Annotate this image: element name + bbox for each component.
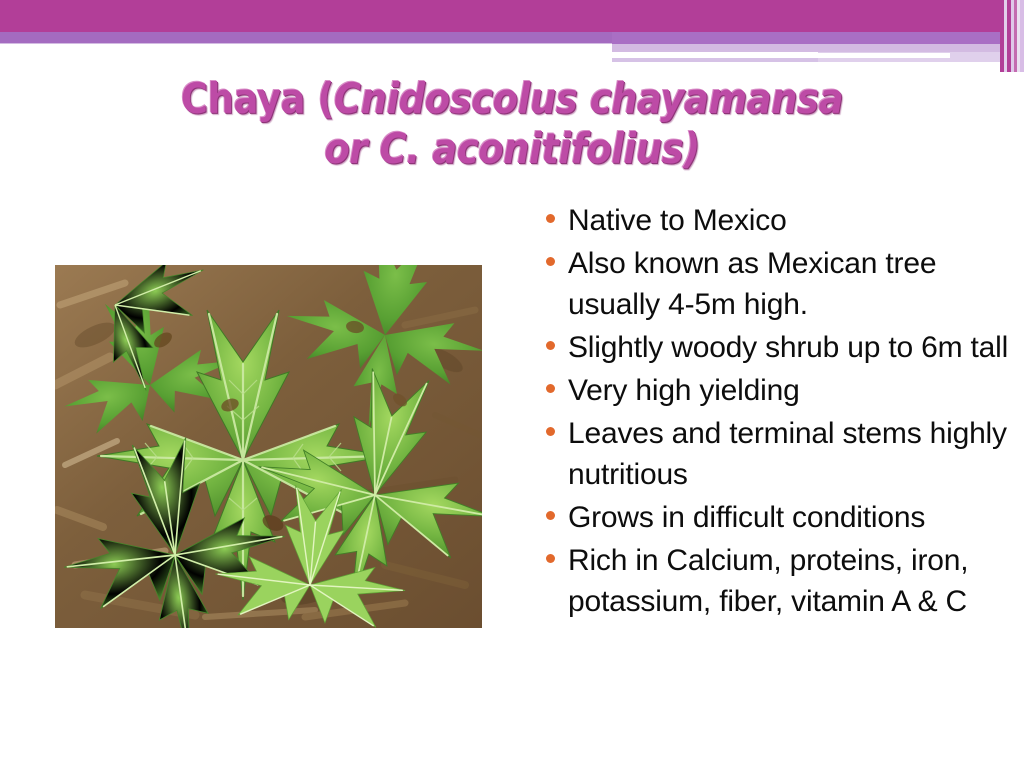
- title-line-2: or C. aconitifolius): [97, 124, 928, 174]
- presentation-slide: Chaya (Cnidoscolus chayamansa or C. acon…: [0, 0, 1024, 768]
- slide-bullet-list: Native to MexicoAlso known as Mexican tr…: [540, 200, 1010, 624]
- chaya-plant-illustration: [55, 265, 482, 628]
- bullet-item: Grows in difficult conditions: [540, 497, 1010, 538]
- banner-band-mid-purple-right: [612, 32, 1024, 44]
- bullet-dot-icon: [540, 243, 568, 266]
- title-line-1: Chaya (Cnidoscolus chayamansa: [97, 74, 928, 124]
- bullet-item: Slightly woody shrub up to 6m tall: [540, 327, 1010, 368]
- bullet-text: Very high yielding: [568, 370, 1010, 411]
- chaya-plant-photo: [55, 265, 482, 628]
- bullet-item: Leaves and terminal stems highly nutriti…: [540, 413, 1010, 495]
- bullet-text: Leaves and terminal stems highly nutriti…: [568, 413, 1010, 495]
- bullet-text: Also known as Mexican tree usually 4-5m …: [568, 243, 1010, 325]
- bullet-dot-icon: [540, 413, 568, 436]
- bullet-dot-icon: [540, 370, 568, 393]
- slide-top-banner: [0, 0, 1024, 72]
- title-scientific-name-1: Cnidoscolus chayamansa: [334, 74, 843, 123]
- bullet-text: Native to Mexico: [568, 200, 1010, 241]
- title-scientific-name-2: or C. aconitifolius: [324, 124, 683, 173]
- bullet-item: Very high yielding: [540, 370, 1010, 411]
- bullet-dot-icon: [540, 327, 568, 350]
- bullet-dot-icon: [540, 200, 568, 223]
- title-common-name: Chaya (: [181, 74, 334, 123]
- bullet-item: Rich in Calcium, proteins, iron, potassi…: [540, 540, 1010, 622]
- banner-vertical-stripe: [1020, 0, 1024, 72]
- bullet-item: Also known as Mexican tree usually 4-5m …: [540, 243, 1010, 325]
- title-closing-paren: ): [683, 124, 699, 173]
- banner-band-deep-magenta: [0, 0, 1024, 32]
- banner-white-hairline-lower: [136, 62, 1024, 72]
- bullet-text: Grows in difficult conditions: [568, 497, 1010, 538]
- bullet-text: Rich in Calcium, proteins, iron, potassi…: [568, 540, 1010, 622]
- bullet-text: Slightly woody shrub up to 6m tall: [568, 327, 1010, 368]
- bullet-dot-icon: [540, 540, 568, 563]
- slide-title: Chaya (Cnidoscolus chayamansa or C. acon…: [40, 74, 984, 174]
- bullet-dot-icon: [540, 497, 568, 520]
- bullet-item: Native to Mexico: [540, 200, 1010, 241]
